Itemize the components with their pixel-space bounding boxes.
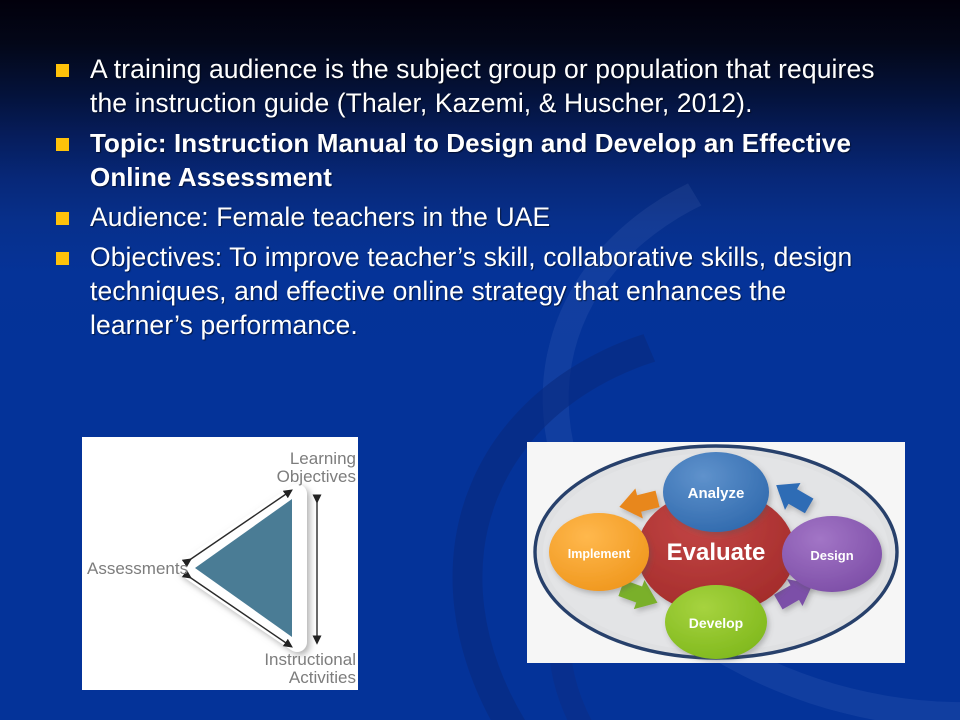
bullet-square-icon xyxy=(56,252,69,265)
list-item: Topic: Instruction Manual to Design and … xyxy=(56,126,886,194)
slide-canvas: A training audience is the subject group… xyxy=(0,0,960,720)
bullet-square-icon xyxy=(56,138,69,151)
bullet-text-3: Audience: Female teachers in the UAE xyxy=(90,200,550,234)
addie-label-implement: Implement xyxy=(568,547,631,561)
bullet-text-2: Topic: Instruction Manual to Design and … xyxy=(90,126,886,194)
bullet-square-icon xyxy=(56,64,69,77)
addie-label-evaluate: Evaluate xyxy=(667,539,766,566)
list-item: A training audience is the subject group… xyxy=(56,52,886,120)
triangle-label-activities-line2: Activities xyxy=(289,668,356,687)
bullet-square-icon xyxy=(56,212,69,225)
bullet-text-4: Objectives: To improve teacher’s skill, … xyxy=(90,240,886,342)
list-item: Audience: Female teachers in the UAE xyxy=(56,200,886,234)
bullet-text-1: A training audience is the subject group… xyxy=(90,52,886,120)
triangle-label-activities-line1: Instructional xyxy=(264,650,356,669)
triangle-label-objectives-line2: Objectives xyxy=(277,467,356,486)
addie-model-image: Analyze Design Develop Implement Evaluat… xyxy=(527,442,905,663)
addie-label-analyze: Analyze xyxy=(688,485,745,502)
bullet-list: A training audience is the subject group… xyxy=(56,52,886,348)
addie-label-design: Design xyxy=(810,548,853,563)
list-item: Objectives: To improve teacher’s skill, … xyxy=(56,240,886,342)
addie-label-develop: Develop xyxy=(689,615,743,631)
instructional-alignment-triangle-image: Learning Objectives Assessments Instruct… xyxy=(82,437,358,690)
triangle-label-assessments: Assessments xyxy=(87,559,188,578)
triangle-label-objectives-line1: Learning xyxy=(290,449,356,468)
